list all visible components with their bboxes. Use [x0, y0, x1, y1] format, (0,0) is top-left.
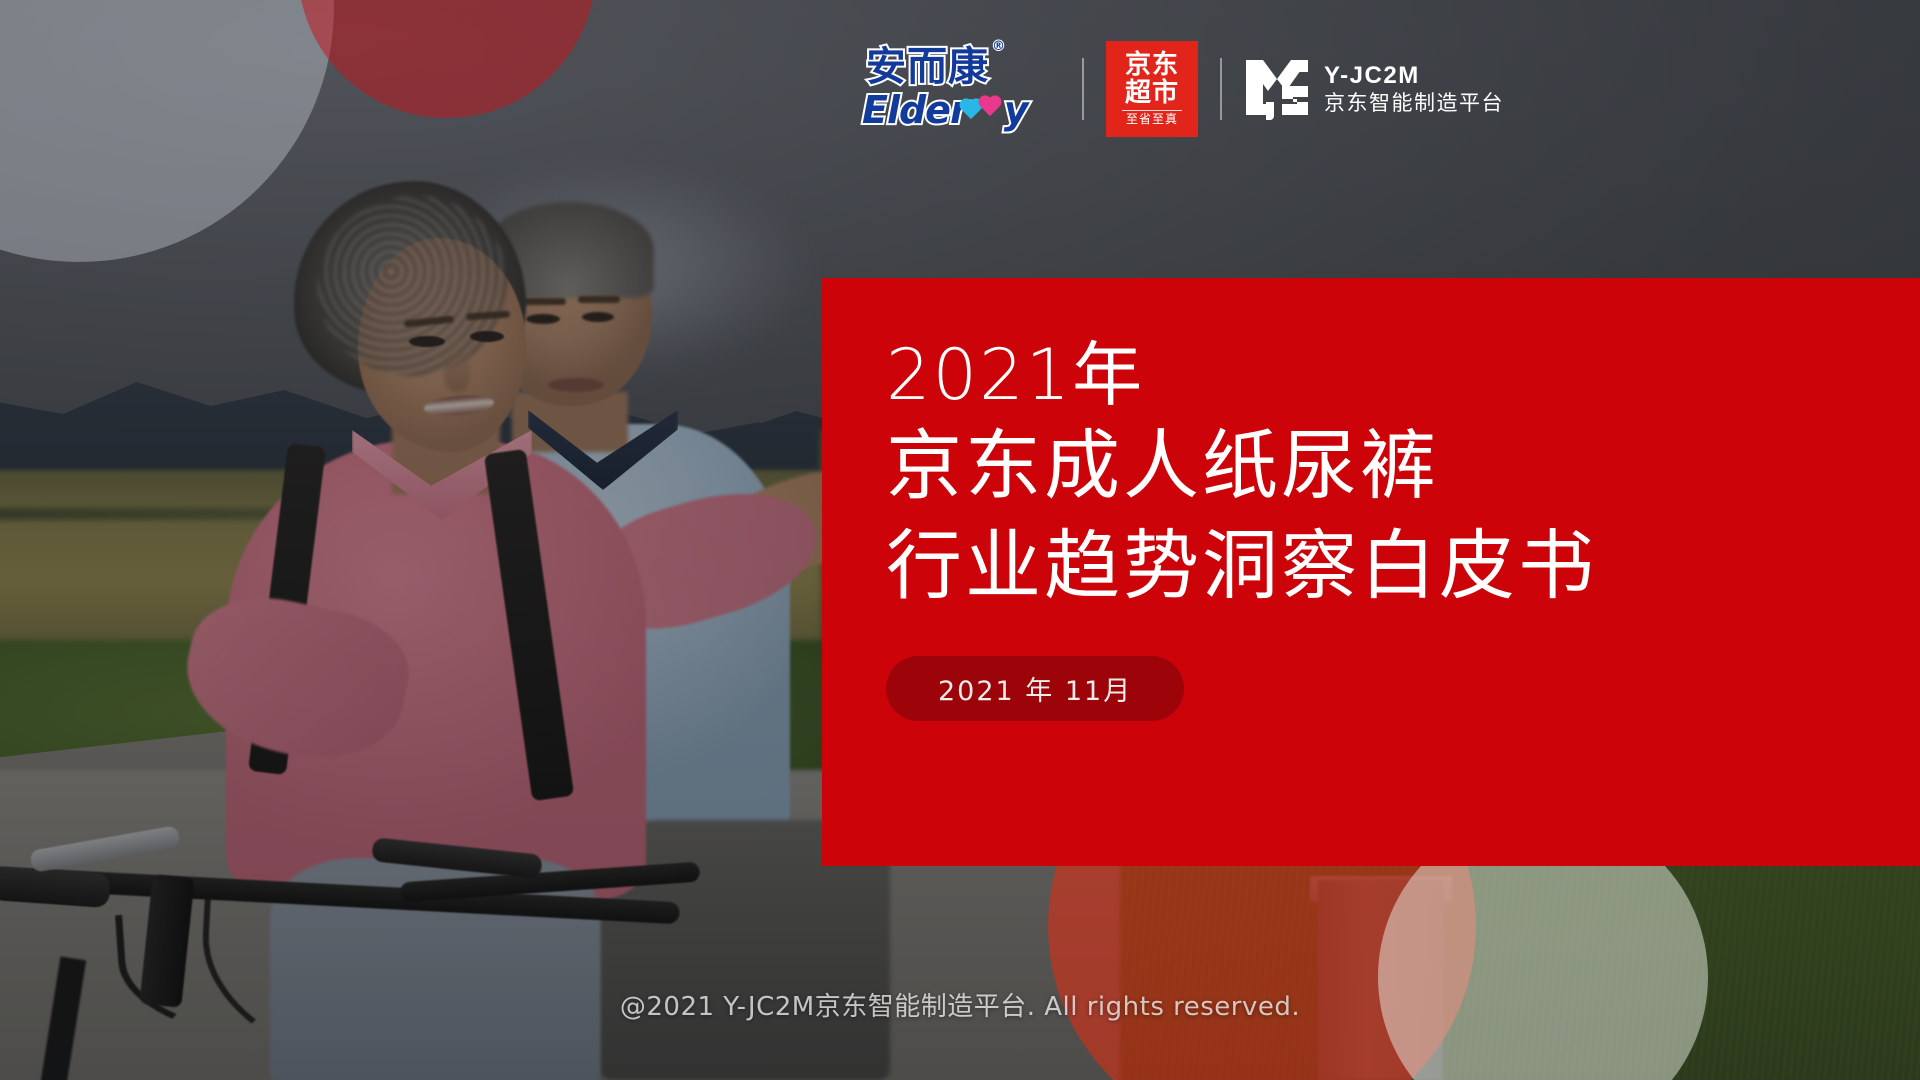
footer-copyright: @2021 Y-JC2M京东智能制造平台. All rights reserve… — [0, 986, 1920, 1023]
yjc2m-m-mark-icon — [1244, 58, 1310, 120]
heart-pink-icon — [977, 96, 1003, 120]
yjc2m-logo: Y-JC2M 京东智能制造平台 — [1244, 58, 1504, 120]
jd-supermarket-tagline: 至省至真 — [1126, 113, 1178, 125]
header-logo-bar: 安而康 ® Elder y 京东 超市 至省至真 — [860, 34, 1500, 144]
elderjoy-english-name: Elder y — [862, 89, 1027, 131]
two-hearts-icon — [958, 89, 1010, 131]
registered-trademark-icon: ® — [992, 40, 1006, 53]
elderjoy-logo: 安而康 ® Elder y — [860, 37, 1060, 141]
elderjoy-cn-text: 安而康 — [866, 44, 989, 90]
title-line-year: 2021年 — [886, 334, 1920, 417]
date-badge: 2021 年 11月 — [886, 656, 1184, 721]
jd-supermarket-line1: 京东 — [1125, 51, 1179, 79]
title-panel: 2021年 京东成人纸尿裤 行业趋势洞察白皮书 2021 年 11月 — [822, 278, 1920, 866]
jd-supermarket-logo: 京东 超市 至省至真 — [1106, 41, 1198, 137]
title-line-sub: 行业趋势洞察白皮书 — [886, 517, 1920, 616]
elderjoy-en-left: Elder — [862, 91, 968, 129]
elderjoy-chinese-name: 安而康 ® — [866, 47, 989, 87]
title-slide: 安而康 ® Elder y 京东 超市 至省至真 — [0, 0, 1920, 1080]
jd-supermarket-rule — [1122, 110, 1182, 111]
jd-supermarket-line2: 超市 — [1125, 79, 1179, 107]
yjc2m-cn-name: 京东智能制造平台 — [1324, 91, 1504, 116]
header-divider-1 — [1082, 58, 1084, 120]
yjc2m-text: Y-JC2M 京东智能制造平台 — [1324, 62, 1504, 115]
title-line-main: 京东成人纸尿裤 — [886, 417, 1920, 516]
yjc2m-en-name: Y-JC2M — [1324, 62, 1504, 90]
header-divider-2 — [1220, 58, 1222, 120]
